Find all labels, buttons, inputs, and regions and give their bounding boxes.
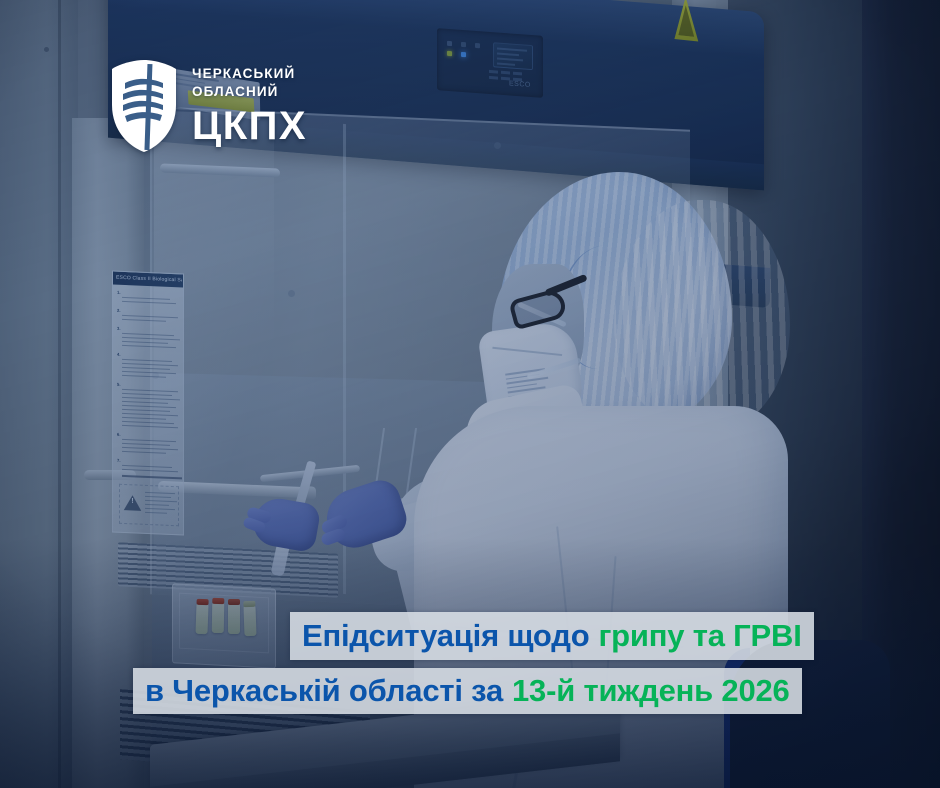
promotional-graphic: ESCO ESCO Class (0, 0, 940, 788)
shield-logo-icon (108, 58, 180, 154)
logo-line-1: ЧЕРКАСЬКИЙ (192, 67, 307, 81)
title-line1-blue: Епідситуація щодо (302, 618, 589, 654)
title-line2-blue: в Черкаській області за (145, 673, 503, 709)
logo-acronym: ЦКПХ (192, 106, 307, 146)
logo-line-2: ОБЛАСНИЙ (192, 85, 307, 99)
title-line2-green: 13-й тиждень 2026 (512, 673, 790, 709)
organization-logo: ЧЕРКАСЬКИЙ ОБЛАСНИЙ ЦКПХ (108, 58, 307, 154)
title-line1-green: грипу та ГРВІ (598, 618, 801, 654)
logo-text-block: ЧЕРКАСЬКИЙ ОБЛАСНИЙ ЦКПХ (192, 67, 307, 146)
title-banner-line-2: в Черкаській області за 13-й тиждень 202… (133, 668, 802, 714)
title-banner-line-1: Епідситуація щодо грипу та ГРВІ (290, 612, 814, 660)
